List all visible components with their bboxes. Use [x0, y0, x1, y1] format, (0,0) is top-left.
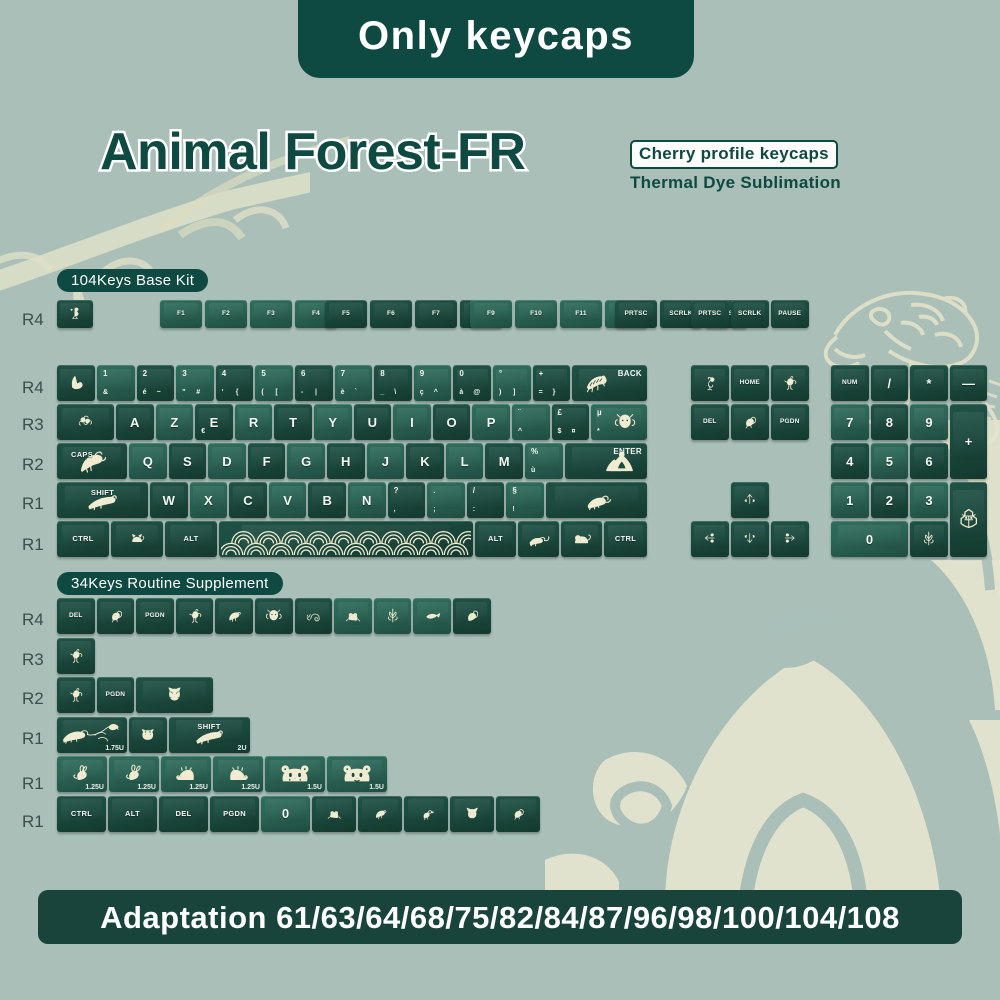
- keycap-legend: F6: [370, 300, 412, 328]
- sup-key-r1c-6[interactable]: [358, 796, 402, 832]
- sup-key-r1c-2[interactable]: DEL: [159, 796, 208, 832]
- key-q[interactable]: Q: [129, 443, 167, 479]
- key-arrow-right[interactable]: [771, 521, 809, 557]
- keycap-legend-tertiary: }: [553, 389, 556, 396]
- keycap-legend-primary: 8: [380, 369, 384, 378]
- sup-row-label-r1a: R1: [22, 730, 44, 747]
- key-f6[interactable]: F6: [370, 300, 412, 328]
- keycap-legend: F: [248, 443, 286, 479]
- key-numpad-0[interactable]: 0: [831, 521, 908, 557]
- keycap-legend: F3: [250, 300, 292, 328]
- keycap-legend: F1: [160, 300, 202, 328]
- sup-key-r4-10[interactable]: [453, 598, 491, 634]
- keycap-size-label: 1.5U: [307, 784, 322, 791]
- keycap-legend-primary: +: [539, 369, 544, 378]
- key-dollar[interactable]: £$¤: [552, 404, 590, 440]
- keycap-legend: 0: [831, 521, 908, 557]
- keycap-legend: H: [327, 443, 365, 479]
- sup-key-r1c-4[interactable]: 0: [261, 796, 310, 832]
- keycap-size-label: 1.25U: [241, 784, 260, 791]
- key-r[interactable]: R: [235, 404, 273, 440]
- keycap-dual-legend: €: [195, 404, 233, 440]
- keycap-legend-secondary: è: [341, 389, 345, 396]
- key-capslock[interactable]: CAPS: [57, 443, 127, 479]
- keycap-legend: K: [406, 443, 444, 479]
- keycap-legend: *: [910, 365, 948, 401]
- key-g[interactable]: G: [287, 443, 325, 479]
- keycap-legend: O: [433, 404, 471, 440]
- key-num-7[interactable]: 7è`: [335, 365, 373, 401]
- sup-key-r1c-1[interactable]: ALT: [108, 796, 157, 832]
- keycap-legend: CTRL: [57, 796, 106, 832]
- arrow-left-bird-icon: [699, 529, 721, 547]
- key-arrow-left[interactable]: [691, 521, 729, 557]
- rooster-icon: [778, 372, 802, 392]
- bunny-icon: [61, 760, 103, 786]
- keycap-legend: V: [269, 482, 307, 518]
- keycap-legend: PGDN: [136, 598, 174, 634]
- keycap-legend-primary: 2: [143, 369, 147, 378]
- bird-icon: [222, 605, 246, 625]
- key-y[interactable]: Y: [314, 404, 352, 440]
- rooster-icon: [64, 684, 88, 704]
- keycap-size-label: 1.5U: [369, 784, 384, 791]
- keycap-legend: PGDN: [97, 677, 135, 713]
- arrow-down-bird-icon: [739, 529, 761, 547]
- key-f2[interactable]: F2: [205, 300, 247, 328]
- sup-key-r1c-3[interactable]: PGDN: [210, 796, 259, 832]
- keycap-dual-legend: .;: [427, 482, 465, 518]
- key-space[interactable]: [219, 521, 473, 557]
- key-numpad-9[interactable]: 9: [910, 404, 948, 440]
- keycap-dual-legend: 8_\: [374, 365, 412, 401]
- key-u[interactable]: U: [354, 404, 392, 440]
- section-label: 104Keys Base Kit: [71, 273, 194, 288]
- keycap-legend: F5: [325, 300, 367, 328]
- keycap-corner-legend: ENTER: [613, 447, 642, 456]
- product-poster: Only keycaps Animal Forest-FR Cherry pro…: [0, 0, 1000, 1000]
- sup-key-r1c-7[interactable]: [404, 796, 448, 832]
- sup-row-label-r4: R4: [22, 611, 44, 628]
- keycap-legend: 9: [910, 404, 948, 440]
- key-numpad-8[interactable]: 8: [871, 404, 909, 440]
- keycap-legend-secondary: _: [380, 389, 384, 396]
- keycap-legend: I: [393, 404, 431, 440]
- keycap-legend-secondary: $: [558, 428, 562, 435]
- snail-icon: [302, 605, 326, 625]
- key-punct-7[interactable]: ?,: [388, 482, 426, 518]
- keycap-dual-legend: 5([: [255, 365, 293, 401]
- keycap-legend-primary: .: [433, 486, 435, 495]
- key-h[interactable]: H: [327, 443, 365, 479]
- keycap-legend-primary: 1: [103, 369, 107, 378]
- key-z[interactable]: Z: [156, 404, 194, 440]
- key-numpad-—[interactable]: —: [950, 365, 988, 401]
- sup-key-r1c-9[interactable]: [496, 796, 540, 832]
- keycap-legend: B: [308, 482, 346, 518]
- key-m[interactable]: M: [485, 443, 523, 479]
- key-num-8[interactable]: 8_\: [374, 365, 412, 401]
- keycap-legend-tertiary: @: [473, 389, 480, 396]
- key-pause[interactable]: PAUSE: [771, 300, 809, 328]
- keycap-legend-secondary: ^: [518, 428, 522, 435]
- sup-row-label-r2: R2: [22, 690, 44, 707]
- keycap-legend: ALT: [165, 521, 217, 557]
- sup-key-r4-8[interactable]: [374, 598, 412, 634]
- key-f1[interactable]: F1: [160, 300, 202, 328]
- keycap-legend: A: [116, 404, 154, 440]
- sup-key-r1a-1[interactable]: [129, 717, 167, 753]
- key-enter[interactable]: ENTER: [565, 443, 648, 479]
- key-numpad-decimal[interactable]: [910, 521, 948, 557]
- lizard-icon: [523, 526, 554, 550]
- key-prtsc[interactable]: PRTSC: [691, 300, 729, 328]
- keycap-legend: PGDN: [210, 796, 259, 832]
- row-label-r3: R3: [22, 416, 44, 433]
- tiger-face-icon: [142, 683, 207, 705]
- key-esc[interactable]: [57, 300, 93, 328]
- section-pill-supplement: 34Keys Routine Supplement: [57, 572, 283, 595]
- keycap-legend: F9: [470, 300, 512, 328]
- keycap-legend: 5: [871, 443, 909, 479]
- chameleon-icon: [552, 485, 644, 513]
- flamingo-icon: [698, 372, 722, 392]
- keycap-legend: 1: [831, 482, 869, 518]
- key-backspace[interactable]: BACK: [572, 365, 647, 401]
- key-f7[interactable]: F7: [415, 300, 457, 328]
- keycap-dual-legend: 1&: [97, 365, 135, 401]
- keycap-legend: U: [354, 404, 392, 440]
- key-mu[interactable]: µ*: [591, 404, 647, 440]
- keycap-dual-legend: µ*: [591, 404, 647, 440]
- key-nav-del[interactable]: DEL: [691, 404, 729, 440]
- key-l[interactable]: L: [446, 443, 484, 479]
- key-num-10[interactable]: 0à@: [453, 365, 491, 401]
- chameleon-branch-icon: [60, 720, 124, 748]
- keycap-legend: 4: [831, 443, 869, 479]
- sup-key-r4-0[interactable]: DEL: [57, 598, 95, 634]
- watermark-abstract-bottom-right: [545, 560, 1000, 905]
- sup-key-r1c-5[interactable]: [312, 796, 356, 832]
- adaptation-banner: Adaptation 61/63/64/68/75/82/84/87/96/98…: [38, 890, 962, 944]
- sup-key-r2-2[interactable]: [136, 677, 213, 713]
- keycap-legend-primary: 4: [222, 369, 226, 378]
- thermal-sublimation-label: Thermal Dye Sublimation: [630, 173, 880, 193]
- keycap-legend-tertiary: [: [275, 389, 277, 396]
- key-numpad-1[interactable]: 1: [831, 482, 869, 518]
- key-t[interactable]: T: [274, 404, 312, 440]
- key-a[interactable]: A: [116, 404, 154, 440]
- squirrel2-icon: [460, 605, 484, 625]
- key-f[interactable]: F: [248, 443, 286, 479]
- key-p[interactable]: P: [472, 404, 510, 440]
- keycap-dual-legend: +=}: [533, 365, 571, 401]
- key-numpad-2[interactable]: 2: [871, 482, 909, 518]
- key-d[interactable]: D: [208, 443, 246, 479]
- sup-key-r1b-1[interactable]: 1.25U: [109, 756, 159, 792]
- keycap-legend: G: [287, 443, 325, 479]
- key-k[interactable]: K: [406, 443, 444, 479]
- key-num-11[interactable]: °)]: [493, 365, 531, 401]
- key-lalt[interactable]: ALT: [165, 521, 217, 557]
- keycap-legend: SCRLK: [731, 300, 769, 328]
- keycap-legend-secondary: €: [201, 428, 205, 435]
- key-w[interactable]: W: [150, 482, 188, 518]
- adaptation-label: Adaptation 61/63/64/68/75/82/84/87/96/98…: [100, 902, 900, 933]
- sup-key-r1c-0[interactable]: CTRL: [57, 796, 106, 832]
- heron-icon: [62, 305, 88, 321]
- key-numpad-NUM[interactable]: NUM: [831, 365, 869, 401]
- keycap-legend-secondary: ç: [420, 389, 424, 396]
- key-c[interactable]: C: [229, 482, 267, 518]
- key-scrlk[interactable]: SCRLK: [731, 300, 769, 328]
- keycap-legend: F10: [515, 300, 557, 328]
- keycap-legend: PAUSE: [771, 300, 809, 328]
- fox-icon: [458, 804, 486, 822]
- sup-key-r1b-3[interactable]: 1.25U: [213, 756, 263, 792]
- key-s[interactable]: S: [169, 443, 207, 479]
- key-v[interactable]: V: [269, 482, 307, 518]
- keycap-dual-legend: 2é~: [137, 365, 175, 401]
- keycap-legend-primary: ¨: [518, 408, 521, 417]
- keycap-legend: W: [150, 482, 188, 518]
- keycap-dual-legend: 7è`: [335, 365, 373, 401]
- key-num-2[interactable]: 2é~: [137, 365, 175, 401]
- key-numpad-plus[interactable]: +: [950, 404, 988, 479]
- key-b[interactable]: B: [308, 482, 346, 518]
- key-ralt[interactable]: ALT: [475, 521, 516, 557]
- key-f9[interactable]: F9: [470, 300, 512, 328]
- keycap-legend: —: [950, 365, 988, 401]
- key-num-12[interactable]: +=}: [533, 365, 571, 401]
- only-keycaps-label: Only keycaps: [358, 16, 634, 62]
- key-num-6[interactable]: 6-|: [295, 365, 333, 401]
- key-f11[interactable]: F11: [560, 300, 602, 328]
- key-punct-9[interactable]: /:: [467, 482, 505, 518]
- keycap-corner-legend: BACK: [618, 369, 642, 378]
- keycap-legend-primary: £: [558, 408, 562, 417]
- key-e[interactable]: E€: [195, 404, 233, 440]
- keycap-size-label: 1.25U: [137, 784, 156, 791]
- key-fn[interactable]: [518, 521, 559, 557]
- keycap-legend-primary: §: [512, 486, 516, 495]
- key-tab[interactable]: [57, 404, 114, 440]
- keycap-legend: F2: [205, 300, 247, 328]
- key-lshift[interactable]: SHIFT: [57, 482, 148, 518]
- keycap-legend-primary: %: [531, 447, 538, 456]
- keycap-legend-primary: µ: [597, 408, 602, 417]
- keycap-dual-legend: ¨^: [512, 404, 550, 440]
- sup-key-r4-7[interactable]: [334, 598, 372, 634]
- key-num-9[interactable]: 9ç^: [414, 365, 452, 401]
- keycap-legend: Q: [129, 443, 167, 479]
- key-menu[interactable]: [561, 521, 602, 557]
- key-nav-squirrel-icon[interactable]: [731, 404, 769, 440]
- keycap-dual-legend: 9ç^: [414, 365, 452, 401]
- keycap-legend: SHIFT: [57, 482, 148, 518]
- keycap-dual-legend: %ù: [525, 443, 563, 479]
- key-rshift[interactable]: [546, 482, 647, 518]
- keycap-legend: Z: [156, 404, 194, 440]
- key-nav-pgdn[interactable]: PGDN: [771, 404, 809, 440]
- key-num-5[interactable]: 5([: [255, 365, 293, 401]
- key-nav-flamingo-icon[interactable]: [691, 365, 729, 401]
- keycap-legend: PGDN: [771, 404, 809, 440]
- sup-key-r1b-0[interactable]: 1.25U: [57, 756, 107, 792]
- keycap-legend-secondary: ": [182, 389, 185, 396]
- key-lwin[interactable]: [111, 521, 163, 557]
- key-numpad-5[interactable]: 5: [871, 443, 909, 479]
- cherry-profile-label: Cherry profile keycaps: [639, 144, 829, 163]
- sup-key-r4-2[interactable]: PGDN: [136, 598, 174, 634]
- row-label-r4-num: R4: [22, 379, 44, 396]
- keycap-legend-secondary: :: [473, 506, 475, 513]
- key-x[interactable]: X: [190, 482, 228, 518]
- keycap-legend-secondary: ,: [394, 506, 396, 513]
- key-num-4[interactable]: 4'{: [216, 365, 254, 401]
- sup-key-r4-4[interactable]: [215, 598, 253, 634]
- owl-icon: [262, 605, 286, 625]
- keycap-dual-legend: 4'{: [216, 365, 254, 401]
- keycap-legend: R: [235, 404, 273, 440]
- keycap-dual-legend: ?,: [388, 482, 426, 518]
- keycap-dual-legend: /:: [467, 482, 505, 518]
- sup-key-r1b-2[interactable]: 1.25U: [161, 756, 211, 792]
- tiger-icon: [576, 369, 617, 395]
- key-tilde-art[interactable]: [57, 365, 95, 401]
- arrow-right-bird-icon: [779, 529, 801, 547]
- keycap-legend-primary: 7: [341, 369, 345, 378]
- keycap-legend: CTRL: [604, 521, 647, 557]
- key-rctrl[interactable]: CTRL: [604, 521, 647, 557]
- sup-key-r4-3[interactable]: [176, 598, 214, 634]
- frog-icon: [320, 804, 348, 822]
- bird-icon: [366, 804, 394, 822]
- sup-key-r1c-8[interactable]: [450, 796, 494, 832]
- key-o[interactable]: O: [433, 404, 471, 440]
- key-numpad-4[interactable]: 4: [831, 443, 869, 479]
- keycap-legend: 0: [261, 796, 310, 832]
- keycap-legend: C: [229, 482, 267, 518]
- sup-key-r4-9[interactable]: [413, 598, 451, 634]
- sup-key-r4-1[interactable]: [97, 598, 135, 634]
- keycap-dual-legend: °)]: [493, 365, 531, 401]
- wave-pattern-icon: [221, 523, 471, 557]
- squirrel-icon: [738, 411, 762, 431]
- keycap-legend-tertiary: ~: [157, 389, 161, 396]
- keycap-dual-legend: 3"#: [176, 365, 214, 401]
- key-nav-rooster-icon[interactable]: [771, 365, 809, 401]
- key-lctrl[interactable]: CTRL: [57, 521, 109, 557]
- keycap-legend: /: [871, 365, 909, 401]
- keycap-legend-primary: 9: [420, 369, 424, 378]
- rabbit-head-icon: [63, 371, 89, 393]
- sup-key-r1a-0[interactable]: 1.75U: [57, 717, 127, 753]
- panda-icon: [269, 760, 321, 786]
- page-title: Animal Forest-FR: [100, 126, 525, 178]
- keycap-legend-secondary: =: [539, 389, 543, 396]
- keycap-legend: ALT: [108, 796, 157, 832]
- keycap-legend: ALT: [475, 521, 516, 557]
- key-n[interactable]: N: [348, 482, 386, 518]
- key-numpad-3[interactable]: 3: [910, 482, 948, 518]
- key-numpad-7[interactable]: 7: [831, 404, 869, 440]
- sup-key-r1b-5[interactable]: 1.5U: [327, 756, 387, 792]
- row-label-r2: R2: [22, 456, 44, 473]
- keycap-legend-primary: 0: [459, 369, 463, 378]
- keycap-legend: S: [169, 443, 207, 479]
- key-numpad-6[interactable]: 6: [910, 443, 948, 479]
- sup-key-r2-1[interactable]: PGDN: [97, 677, 135, 713]
- section-pill-base-kit: 104Keys Base Kit: [57, 269, 208, 292]
- keycap-size-label: 1.25U: [189, 784, 208, 791]
- key-f5[interactable]: F5: [325, 300, 367, 328]
- keycap-legend-tertiary: ^: [434, 389, 438, 396]
- keycap-legend-tertiary: ¤: [572, 428, 576, 435]
- key-numpad-*[interactable]: *: [910, 365, 948, 401]
- sup-key-r3-0[interactable]: [57, 638, 95, 674]
- keycap-legend-primary: °: [499, 369, 502, 378]
- section-label: 34Keys Routine Supplement: [71, 576, 269, 591]
- keycap-legend: F11: [560, 300, 602, 328]
- fish-icon: [420, 605, 444, 625]
- keycap-legend-tertiary: #: [196, 389, 200, 396]
- key-punct-10[interactable]: §!: [506, 482, 544, 518]
- key-punct-8[interactable]: .;: [427, 482, 465, 518]
- sup-row-label-r1c: R1: [22, 813, 44, 830]
- sup-key-r1a-2[interactable]: SHIFT2U: [169, 717, 250, 753]
- key-dieresis[interactable]: ¨^: [512, 404, 550, 440]
- key-numpad-/[interactable]: /: [871, 365, 909, 401]
- key-num-3[interactable]: 3"#: [176, 365, 214, 401]
- cherry-profile-badge: Cherry profile keycaps: [630, 140, 838, 169]
- sup-key-r2-0[interactable]: [57, 677, 95, 713]
- keycap-legend: PRTSC: [691, 300, 729, 328]
- coral-icon: [917, 528, 941, 548]
- key-arrow-up[interactable]: [731, 482, 769, 518]
- key-nav-home[interactable]: HOME: [731, 365, 769, 401]
- key-j[interactable]: J: [367, 443, 405, 479]
- sup-key-r1b-4[interactable]: 1.5U: [265, 756, 325, 792]
- keycap-legend-tertiary: |: [315, 389, 317, 396]
- keycap-legend-secondary: -: [301, 389, 303, 396]
- mouse-icon: [566, 526, 597, 550]
- hedgehog2-icon: [217, 760, 259, 786]
- rooster-icon: [64, 645, 88, 665]
- key-arrow-down[interactable]: [731, 521, 769, 557]
- keycap-legend: NUM: [831, 365, 869, 401]
- key-i[interactable]: I: [393, 404, 431, 440]
- key-percent[interactable]: %ù: [525, 443, 563, 479]
- sup-row-label-r3: R3: [22, 651, 44, 668]
- key-numpad-enter[interactable]: [950, 482, 988, 557]
- keycap-legend-secondary: ': [222, 389, 224, 396]
- key-num-1[interactable]: 1&: [97, 365, 135, 401]
- keycap-legend: PRTSC: [615, 300, 657, 328]
- keycap-legend: DEL: [57, 598, 95, 634]
- keycap-legend: CAPS: [57, 443, 127, 479]
- coral-icon: [381, 605, 405, 625]
- keycap-legend-tertiary: ]: [513, 389, 515, 396]
- sup-key-r4-5[interactable]: [255, 598, 293, 634]
- key-f10[interactable]: F10: [515, 300, 557, 328]
- key-f3[interactable]: F3: [250, 300, 292, 328]
- keycap-legend: M: [485, 443, 523, 479]
- sup-key-r4-6[interactable]: [295, 598, 333, 634]
- keycap-legend-secondary: *: [597, 428, 600, 435]
- key-prtsc[interactable]: PRTSC: [615, 300, 657, 328]
- keycap-legend: X: [190, 482, 228, 518]
